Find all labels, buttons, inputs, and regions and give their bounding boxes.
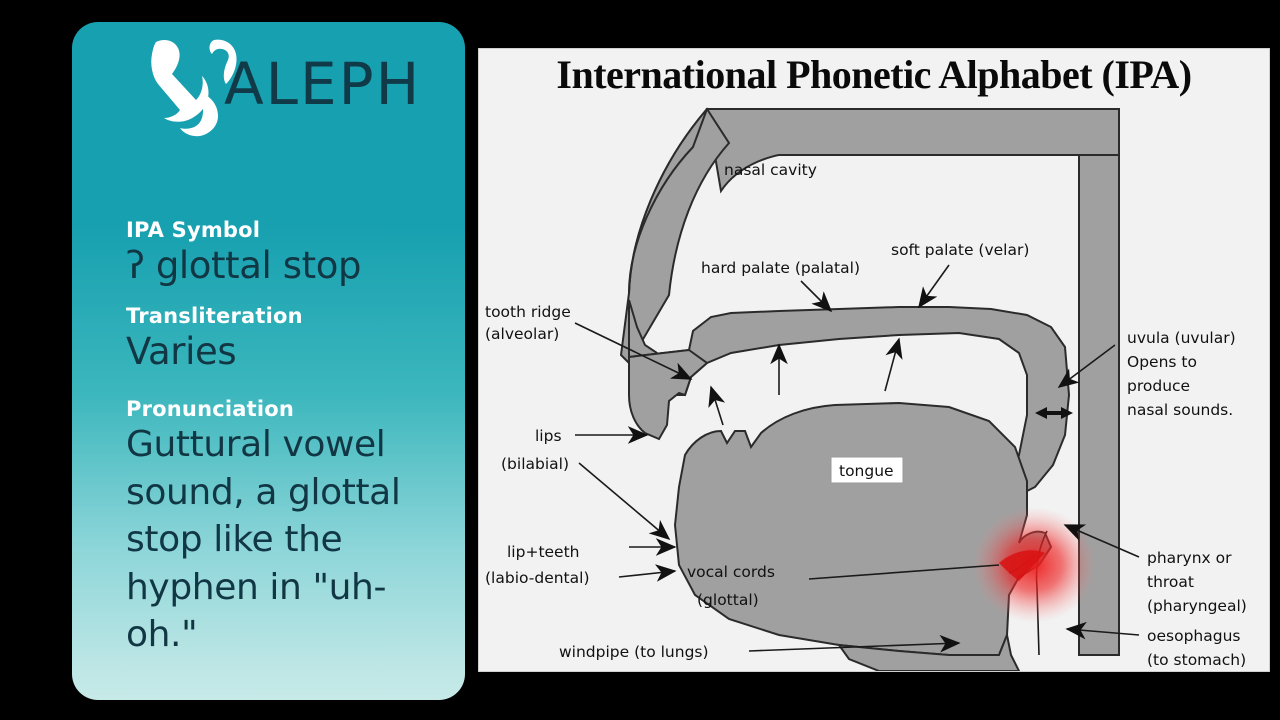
letter-name: ALEPH [224, 50, 421, 118]
label-hard-palate: hard palate (palatal) [701, 259, 860, 277]
label-oesophagus-l2: (to stomach) [1147, 651, 1246, 669]
label-oesophagus: oesophagus [1147, 627, 1240, 645]
screen-root: ALEPH IPA Symbol ʔ glottal stop Translit… [0, 0, 1280, 720]
label-uvula-l4: nasal sounds. [1127, 401, 1233, 419]
label-pharynx: pharynx or [1147, 549, 1232, 567]
label-lips: lips [535, 427, 562, 445]
label-tongue: tongue [839, 462, 894, 480]
label-lips-sub: (bilabial) [501, 455, 569, 473]
letter-info-card: ALEPH IPA Symbol ʔ glottal stop Translit… [72, 22, 465, 700]
label-windpipe: windpipe (to lungs) [559, 643, 709, 661]
card-header: ALEPH [72, 22, 465, 172]
label-vocal-cords-sub: (glottal) [697, 591, 759, 609]
field-label-ipa-symbol: IPA Symbol [126, 218, 465, 242]
field-value-ipa-symbol: ʔ glottal stop [126, 242, 465, 289]
field-label-pronunciation: Pronunciation [126, 397, 465, 421]
label-pharynx-l2: throat [1147, 573, 1194, 591]
field-label-transliteration: Transliteration [126, 304, 465, 328]
field-transliteration: Transliteration Varies [72, 304, 465, 376]
ipa-diagram-panel: International Phonetic Alphabet (IPA) [478, 48, 1270, 672]
label-tooth-ridge-sub: (alveolar) [485, 325, 559, 343]
diagram-title: International Phonetic Alphabet (IPA) [479, 51, 1269, 98]
field-value-pronunciation: Guttural vowel sound, a glottal stop lik… [126, 421, 456, 659]
label-uvula: uvula (uvular) [1127, 329, 1236, 347]
vocal-tract-diagram: nasal cavity hard palate (palatal) soft … [479, 95, 1269, 671]
label-nasal-cavity: nasal cavity [724, 161, 817, 179]
field-pronunciation: Pronunciation Guttural vowel sound, a gl… [72, 397, 465, 659]
label-tooth-ridge: tooth ridge [485, 303, 571, 321]
label-uvula-l3: produce [1127, 377, 1190, 395]
label-lip-teeth-sub: (labio-dental) [485, 569, 590, 587]
field-ipa-symbol: IPA Symbol ʔ glottal stop [72, 218, 465, 290]
label-uvula-l2: Opens to [1127, 353, 1197, 371]
label-vocal-cords: vocal cords [687, 563, 775, 581]
label-pharynx-l3: (pharyngeal) [1147, 597, 1247, 615]
label-lip-teeth: lip+teeth [507, 543, 580, 561]
label-soft-palate: soft palate (velar) [891, 241, 1029, 259]
field-value-transliteration: Varies [126, 328, 465, 375]
